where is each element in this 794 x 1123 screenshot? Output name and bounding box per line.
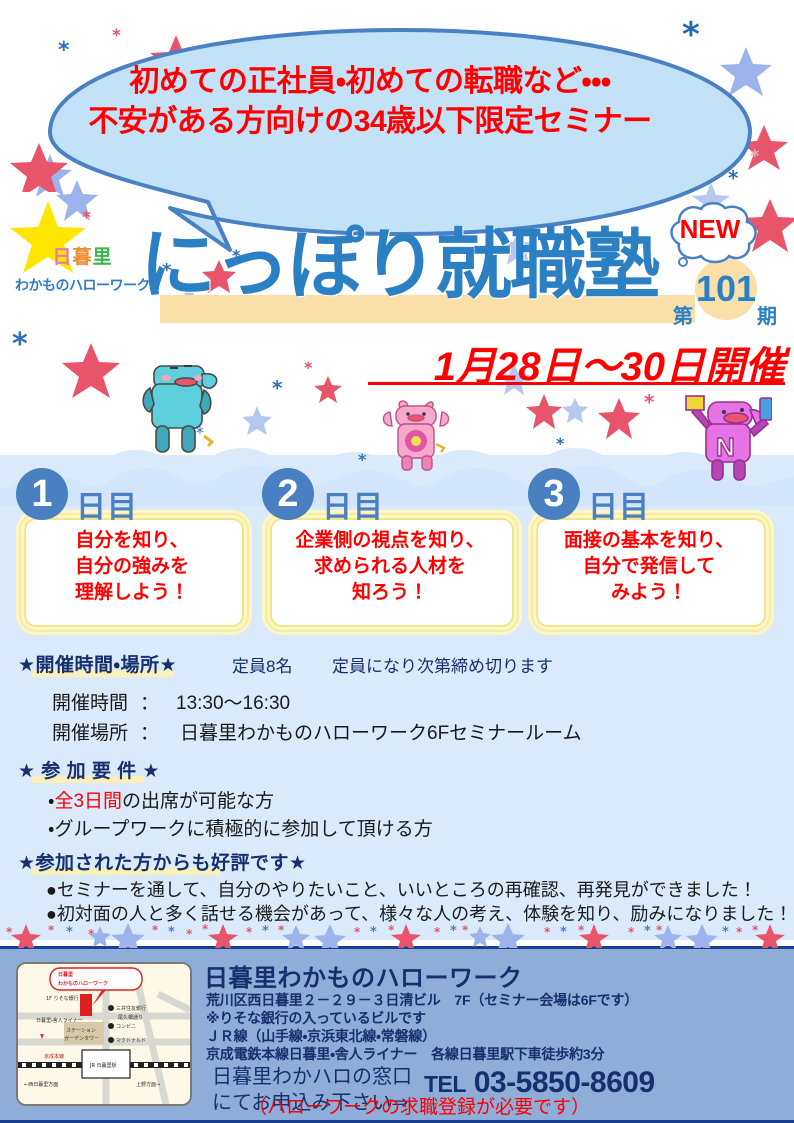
- svg-text:*: *: [196, 423, 204, 442]
- map-tower-1: ステーション: [66, 1028, 96, 1034]
- page-title: にっぽり就職塾: [140, 228, 700, 304]
- requirement-1-rest: の出席が可能な方: [122, 791, 274, 812]
- map-mitsui: 三井住友銀行: [116, 1005, 146, 1012]
- logo-nippori: 日暮里: [10, 248, 155, 269]
- mascot-magenta-elephant: N: [680, 386, 772, 486]
- sparkle-icon: *: [358, 452, 366, 468]
- day-box-text-3: 面接の基本を知り、 自分で発信して みよう！: [536, 528, 762, 607]
- svg-text:*: *: [186, 927, 193, 941]
- day-box-text-1: 自分を知り、 自分の強みを 理解しよう！: [24, 528, 240, 607]
- svg-text:*: *: [722, 925, 729, 940]
- sparkle-icon: *: [12, 330, 28, 360]
- svg-text:*: *: [354, 925, 361, 939]
- svg-text:*: *: [434, 925, 441, 939]
- svg-text:*: *: [736, 925, 743, 939]
- hellowork-logo: 日暮里 わかものハローワーク: [10, 248, 155, 295]
- place-value: 日暮里わかものハローワーク6Fセミナールーム: [180, 718, 582, 745]
- map-east-dir: 上野方面→: [136, 1081, 160, 1088]
- place-label: 開催場所: [52, 718, 128, 745]
- day-badge-2: 2: [262, 468, 314, 520]
- requirement-1-red: 全3日間: [54, 791, 122, 812]
- star-red-icon: [60, 340, 122, 402]
- requirement-item-2: ・グループワークに積極的に参加して頂ける方: [48, 814, 433, 841]
- svg-text:*: *: [544, 925, 551, 939]
- time-value: 13:30〜16:30: [176, 688, 290, 715]
- time-separator: ：: [140, 688, 159, 715]
- svg-text:N: N: [716, 432, 735, 462]
- footer-jr-line: ＪＲ線（山手線・京浜東北線・常磐線）: [206, 1026, 436, 1046]
- star-red-icon: [524, 392, 564, 432]
- footer-address: 荒川区西日暮里２－２９－３日清ビル 7F（セミナー会場は6Fです）: [206, 990, 638, 1010]
- bubble-text-block: 初めての正社員・初めての転職など・・・ 不安がある方向けの34歳以下限定セミナー: [0, 62, 740, 141]
- day-label-1: 日目: [76, 482, 138, 526]
- svg-text:*: *: [246, 925, 253, 939]
- schedule-heading: ★開催時間・場所★: [18, 650, 177, 677]
- day-label-3: 日目: [588, 482, 650, 526]
- footer-org-name: 日暮里わかものハローワーク: [204, 958, 523, 993]
- svg-text:*: *: [644, 924, 651, 939]
- map-callout-line2: わかものハローワーク: [58, 980, 108, 987]
- mascot-cyan-elephant: *: [132, 348, 228, 460]
- footer-registration-note: （ハローワークの求職登録が必要です）: [248, 1092, 590, 1119]
- day-badge-3: 3: [528, 468, 580, 520]
- term-number: 101: [695, 268, 757, 310]
- day-badge-1: 1: [16, 468, 68, 520]
- event-date-underline: [368, 382, 785, 385]
- capacity-label: 定員8名: [232, 652, 292, 677]
- svg-text:*: *: [6, 925, 13, 939]
- poster-root: * * * * * * * * * * *: [0, 0, 794, 1123]
- svg-text:*: *: [66, 925, 73, 940]
- requirements-heading: ★ 参 加 要 件 ★: [18, 756, 160, 783]
- svg-text:*: *: [370, 925, 377, 940]
- svg-text:*: *: [560, 925, 567, 940]
- day-box-text-2: 企業側の視点を知り、 求められる人材を 知ろう！: [270, 528, 510, 607]
- logo-wakamono: わかものハローワーク: [10, 275, 155, 295]
- map-keisei: 京成本線: [44, 1053, 64, 1060]
- testimonial-item-2: ●初対面の人と多く話せる機会があって、様々な人の考え、体験を知り、励みになりまし…: [46, 900, 792, 926]
- time-label: 開催時間: [52, 688, 128, 715]
- mascot-pink-elephant: [378, 396, 456, 472]
- map-street: 尾久橋通り: [118, 1014, 143, 1021]
- sparkle-icon: *: [644, 392, 654, 412]
- testimonials-heading: ★参加された方からも好評です★: [18, 848, 307, 875]
- svg-text:*: *: [450, 924, 457, 939]
- svg-text:*: *: [262, 924, 269, 939]
- footer-apply-line-1: 日暮里わかハロの窓口: [212, 1060, 412, 1089]
- requirement-item-1: ・全3日間の出席が可能な方: [48, 786, 274, 813]
- star-blue-icon: [560, 396, 590, 426]
- map-konbini: コンビニ: [116, 1023, 136, 1030]
- map-mcdonalds: マクドナルド: [116, 1038, 146, 1044]
- map-liner: 日暮里・舎人ライナー: [36, 1017, 83, 1024]
- logo-char-sato: 里: [93, 247, 113, 268]
- star-blue-icon: [240, 404, 274, 438]
- map-resona: 1F りそな銀行: [46, 995, 79, 1002]
- testimonial-item-1: ●セミナーを通して、自分のやりたいこと、いいところの再確認、再発見ができました！: [46, 876, 757, 902]
- sparkle-icon: *: [272, 378, 282, 398]
- capacity-note: 定員になり次第締め切ります: [332, 652, 553, 677]
- new-badge: NEW: [655, 214, 765, 245]
- map-tower-2: ガーデンタワー: [64, 1035, 99, 1042]
- logo-char-kure: 暮: [72, 247, 92, 268]
- sparkle-icon: *: [556, 436, 564, 452]
- term-prefix: 第: [673, 300, 693, 329]
- svg-text:*: *: [628, 925, 635, 939]
- svg-text:*: *: [88, 927, 95, 941]
- star-red-icon: [596, 396, 642, 442]
- bubble-line-2: 不安がある方向けの34歳以下限定セミナー: [0, 102, 740, 142]
- star-red-icon: [312, 374, 344, 406]
- logo-char-hi: 日: [52, 247, 72, 268]
- map-station: JR 日暮里駅: [89, 1062, 117, 1069]
- place-separator: ：: [140, 718, 159, 745]
- bubble-line-1: 初めての正社員・初めての転職など・・・: [0, 62, 740, 102]
- footer-bank-note: ※りそな銀行の入っているビルです: [206, 1008, 426, 1028]
- svg-text:*: *: [168, 925, 175, 940]
- access-map: 日暮里 わかものハローワーク 1F りそな銀行 日暮里・舎人ライナー ステーショ…: [16, 962, 192, 1106]
- term-suffix: 期: [757, 300, 777, 329]
- day-label-2: 日目: [322, 482, 384, 526]
- map-callout-line1: 日暮里: [58, 971, 73, 978]
- map-west-dir: ←西日暮里方面: [24, 1081, 58, 1088]
